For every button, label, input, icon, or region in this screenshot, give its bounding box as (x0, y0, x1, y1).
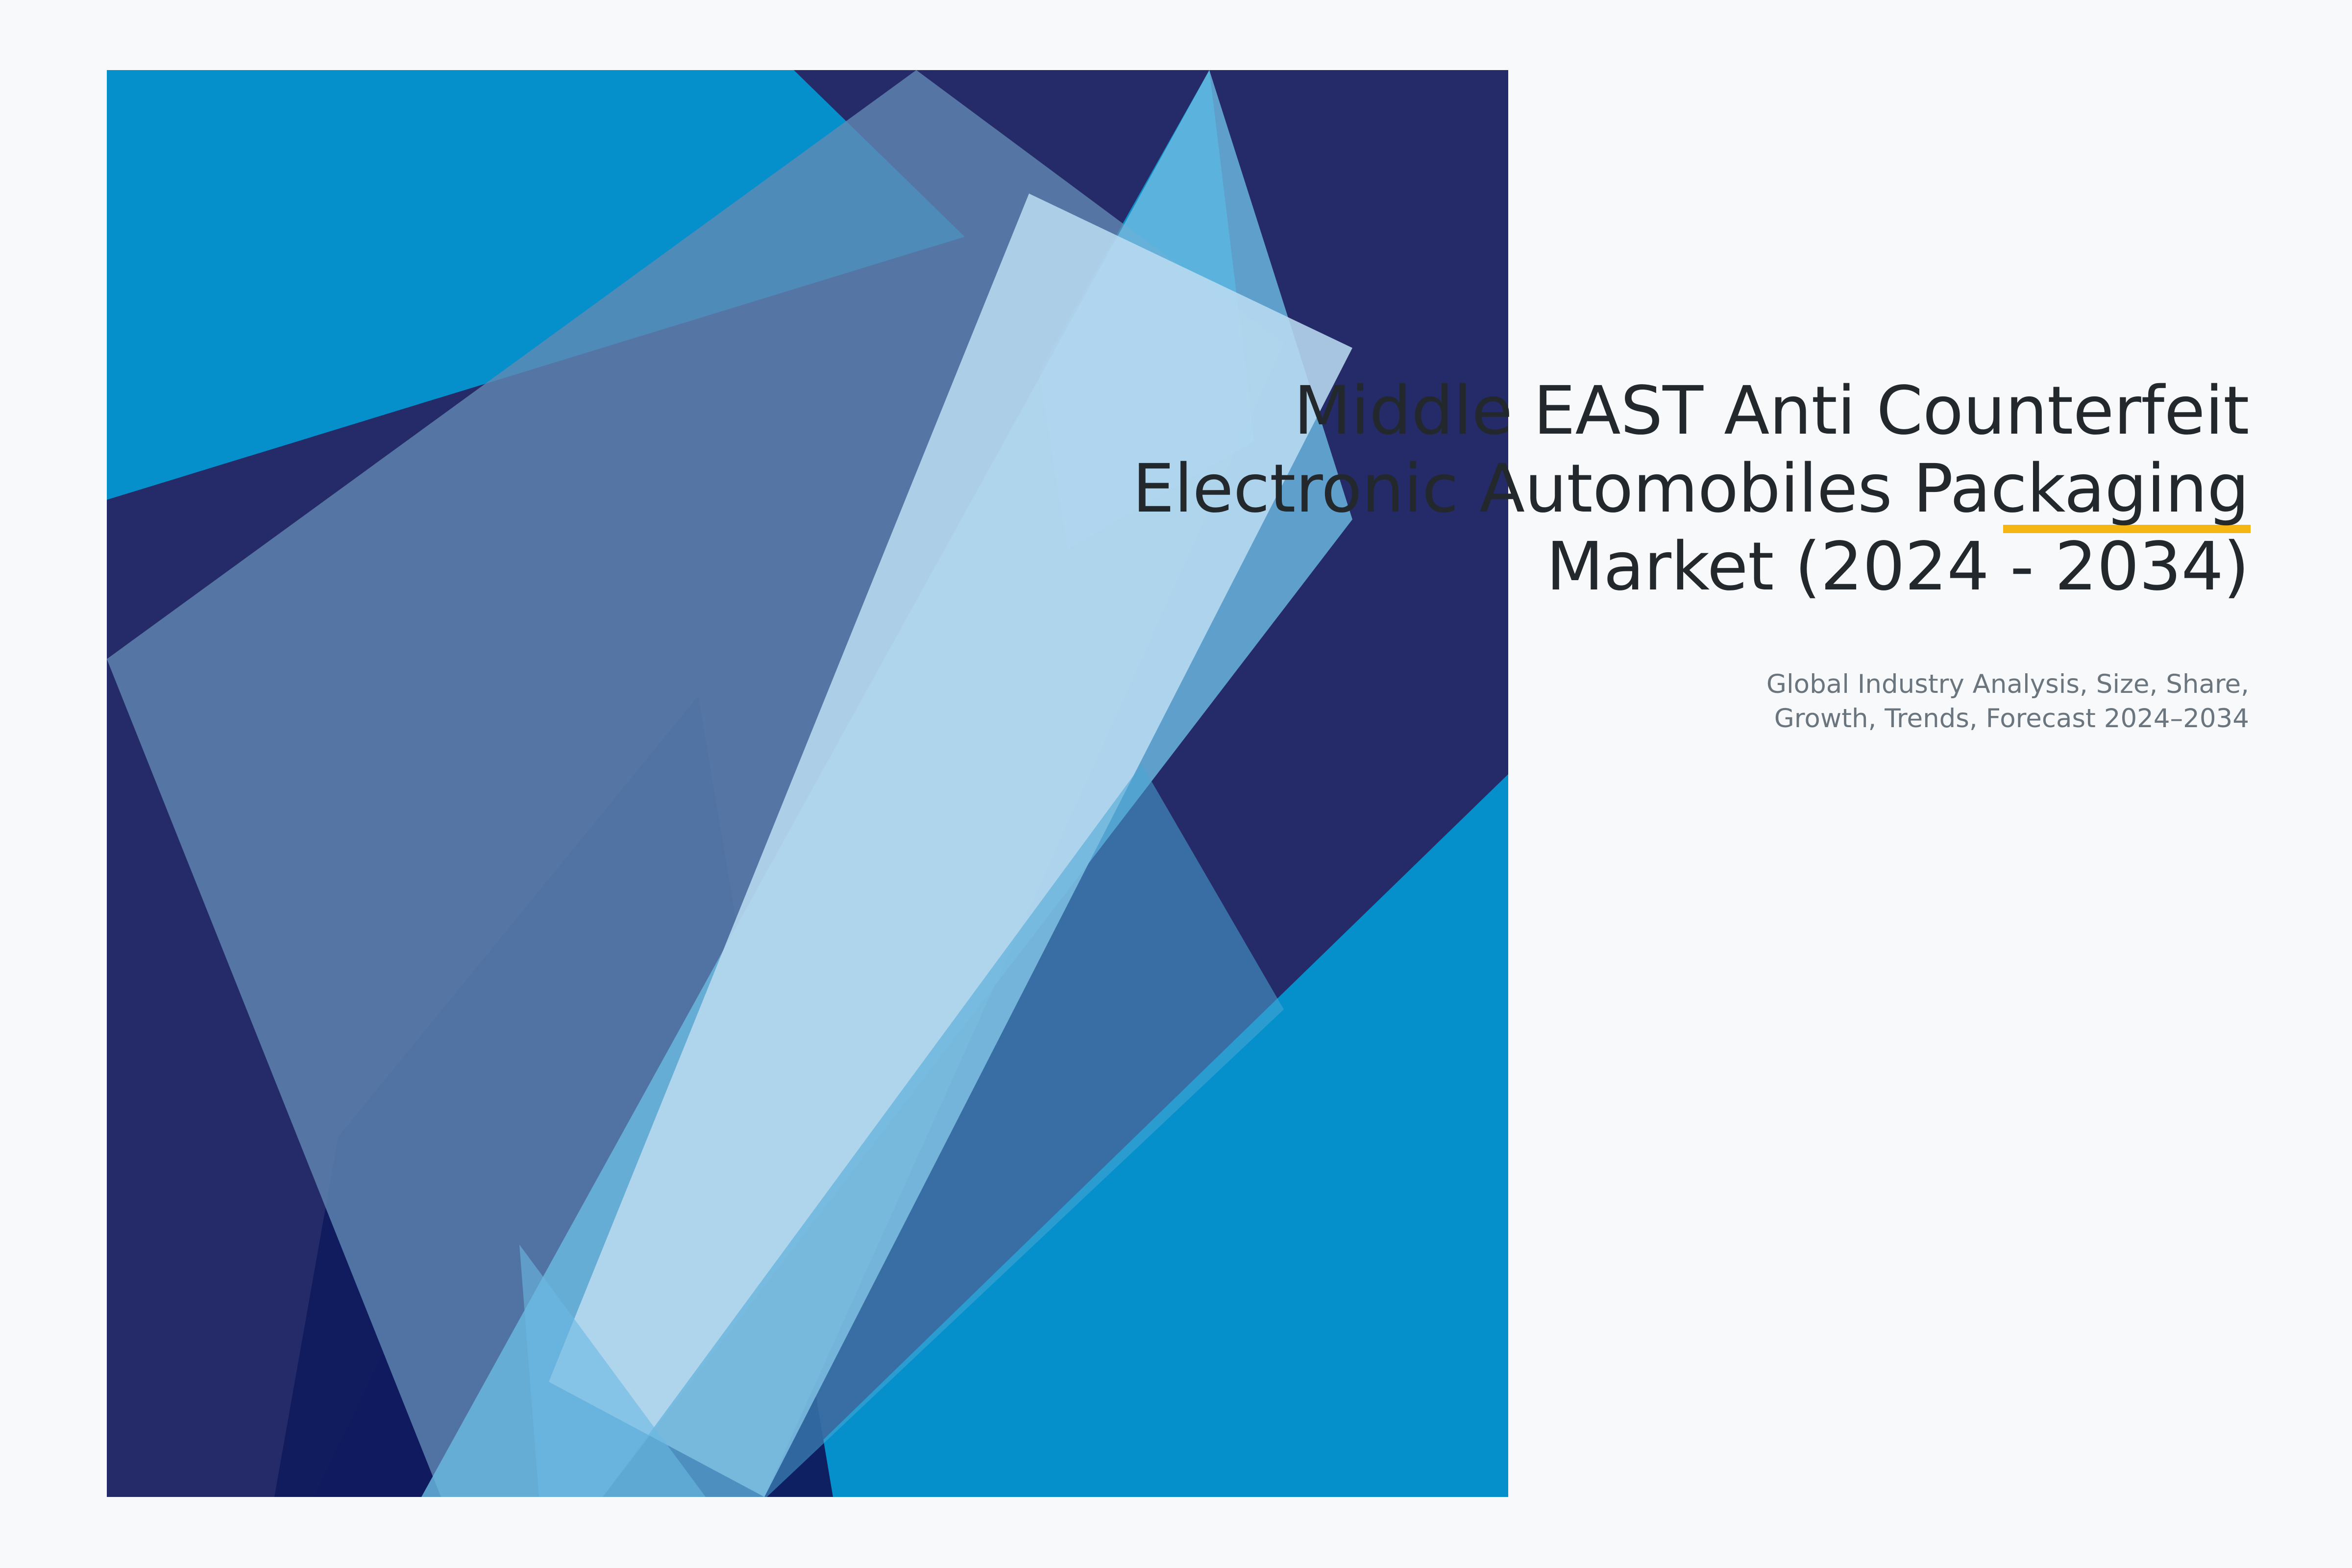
page-subtitle: Global Industry Analysis, Size, Share, G… (1274, 667, 2249, 736)
abstract-geometric-graphic (0, 0, 2352, 1568)
page-title-line-2: Electronic Automobiles Packaging (1132, 450, 2249, 528)
page-subtitle-line-2: Growth, Trends, Forecast 2024–2034 (1774, 704, 2249, 734)
page-subtitle-line-1: Global Industry Analysis, Size, Share, (1766, 669, 2249, 699)
title-block: Middle EAST Anti Counterfeit Electronic … (931, 372, 2249, 606)
cover-page: Middle EAST Anti Counterfeit Electronic … (0, 0, 2352, 1568)
page-title: Middle EAST Anti Counterfeit Electronic … (931, 372, 2249, 606)
page-title-line-1: Middle EAST Anti Counterfeit (1294, 372, 2249, 450)
page-title-line-3: Market (2024 - 2034) (1546, 528, 2249, 606)
